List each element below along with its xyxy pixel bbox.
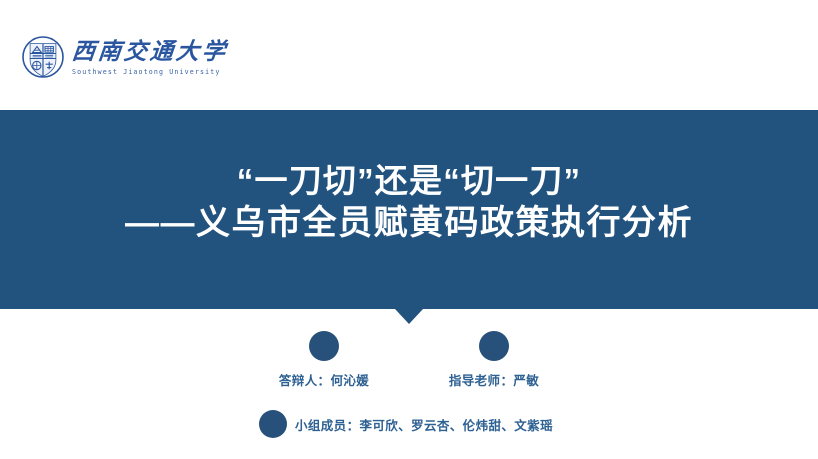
bullet-dot-icon [309,331,339,361]
bullet-dot-icon [479,331,509,361]
title-line-2: ——义乌市全员赋黄码政策执行分析 [0,202,818,245]
university-logo: 西南交通大学 Southwest Jiaotong University [22,33,228,81]
logo-name-cn: 西南交通大学 [71,40,230,65]
credits-members-row: 小组成员：李可欣、罗云杏、伦炜甜、文紫瑶 [0,410,818,438]
title-banner: “一刀切”还是“切一刀” ——义乌市全员赋黄码政策执行分析 [0,110,818,309]
triangle-down-icon [395,309,423,324]
presentation-title-slide: 西南交通大学 Southwest Jiaotong University “一刀… [0,0,818,459]
presenter-credit: 答辩人：何沁媛 [239,331,409,389]
members-credit: 小组成员：李可欣、罗云杏、伦炜甜、文紫瑶 [259,410,553,438]
presenter-label: 答辩人：何沁媛 [279,370,369,389]
title-line-1: “一刀切”还是“切一刀” [0,159,818,202]
members-label: 小组成员：李可欣、罗云杏、伦炜甜、文紫瑶 [295,415,553,434]
bullet-dot-icon [259,410,287,438]
advisor-credit: 指导老师：严敏 [409,331,579,389]
logo-wordmark: 西南交通大学 Southwest Jiaotong University [72,38,228,76]
university-shield-icon [22,33,64,81]
logo-name-en: Southwest Jiaotong University [72,68,228,76]
advisor-label: 指导老师：严敏 [449,370,539,389]
slide-title: “一刀切”还是“切一刀” ——义乌市全员赋黄码政策执行分析 [0,159,818,245]
credits-presenter-row: 答辩人：何沁媛 指导老师：严敏 [0,331,818,389]
